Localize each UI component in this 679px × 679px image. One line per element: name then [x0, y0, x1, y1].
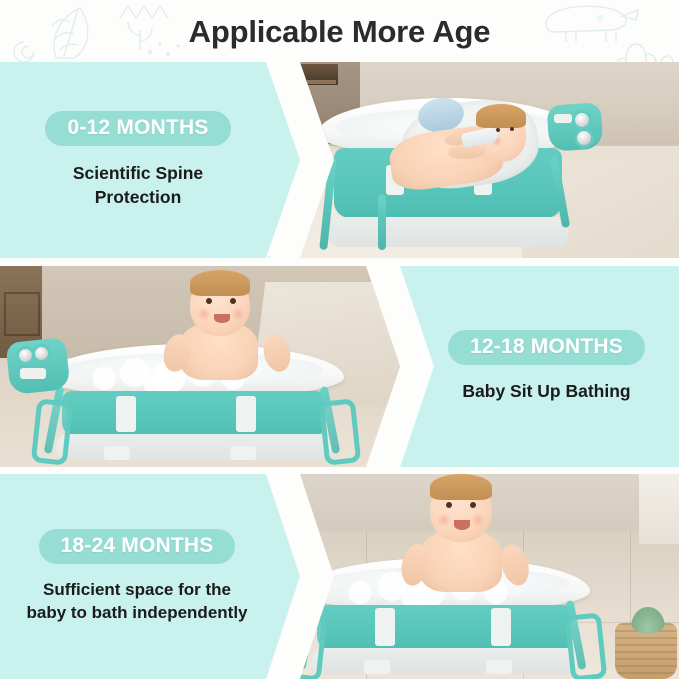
- tub-strap: [491, 608, 511, 646]
- temperature-knob: [572, 110, 592, 130]
- baby-cheek: [196, 308, 212, 320]
- baby-hair: [190, 270, 250, 296]
- panel-divider: [0, 258, 679, 266]
- age-badge: 0-12 MONTHS: [45, 111, 230, 146]
- tub-body: [317, 605, 572, 652]
- feature-description: Sufficient space for the baby to bath in…: [26, 579, 247, 624]
- door-panel: [4, 292, 40, 336]
- tub-base: [56, 434, 332, 460]
- feature-panel-18-24-months: 18-24 MONTHS Sufficient space for the ba…: [0, 474, 679, 679]
- baby-eye: [470, 502, 476, 508]
- tub-body: [62, 391, 326, 438]
- tub-base: [312, 648, 579, 674]
- header: Applicable More Age: [0, 0, 679, 62]
- baby: [386, 100, 546, 208]
- tub-foot-pad: [104, 446, 130, 460]
- feature-description: Scientific Spine Protection: [73, 162, 203, 209]
- baby-eye: [230, 298, 236, 304]
- tub-foot-pad: [364, 660, 390, 674]
- panel-text-block: 18-24 MONTHS Sufficient space for the ba…: [0, 474, 300, 679]
- tub-strap: [116, 396, 136, 432]
- tub-strap: [236, 396, 256, 432]
- cabinet-shelf: [300, 80, 336, 84]
- age-badge: 18-24 MONTHS: [39, 529, 236, 564]
- temperature-gauge: [20, 368, 46, 379]
- baby-cheek: [230, 308, 246, 320]
- age-badge: 12-18 MONTHS: [448, 330, 645, 365]
- baby-eye: [510, 127, 514, 131]
- baby-hair: [476, 104, 526, 128]
- page-title: Applicable More Age: [185, 16, 495, 47]
- tub-handle: [319, 398, 361, 465]
- panel-photo: [300, 62, 679, 258]
- baby-mouth: [454, 520, 470, 530]
- drain-knob: [300, 556, 309, 575]
- panel-text-block: 0-12 MONTHS Scientific Spine Protection: [0, 62, 300, 258]
- tub-foot-pad: [230, 446, 256, 460]
- baby-hair: [430, 474, 492, 500]
- tub-handle: [31, 398, 73, 465]
- tub-handle: [565, 612, 608, 679]
- tub-foot-pad: [486, 660, 512, 674]
- baby: [404, 478, 530, 598]
- panel-text-block: 12-18 MONTHS Baby Sit Up Bathing: [400, 266, 679, 467]
- panel-photo: [0, 266, 400, 467]
- baby-arm: [497, 541, 534, 589]
- feature-panel-12-18-months: 12-18 MONTHS Baby Sit Up Bathing: [0, 266, 679, 467]
- plant: [631, 607, 665, 633]
- tub-control-panel: [300, 549, 331, 609]
- temperature-gauge: [300, 582, 306, 593]
- baby: [168, 272, 288, 382]
- baby-mouth: [214, 314, 230, 323]
- drain-knob: [32, 344, 51, 363]
- tub-base: [328, 217, 567, 247]
- baby-cheek: [470, 514, 486, 526]
- tub-strap: [375, 608, 395, 646]
- panel-photo: [300, 474, 679, 679]
- baby-eye: [206, 298, 212, 304]
- temperature-gauge: [554, 114, 572, 123]
- baby-cheek: [436, 514, 452, 526]
- drain-knob: [574, 128, 594, 148]
- baby-eye: [446, 502, 452, 508]
- feature-description: Baby Sit Up Bathing: [462, 380, 630, 403]
- panel-divider: [0, 467, 679, 474]
- feature-panel-0-12-months: 0-12 MONTHS Scientific Spine Protection: [0, 62, 679, 258]
- tub-leg: [378, 194, 386, 250]
- infographic-canvas: Applicable More Age: [0, 0, 679, 679]
- wall-panel: [639, 474, 679, 544]
